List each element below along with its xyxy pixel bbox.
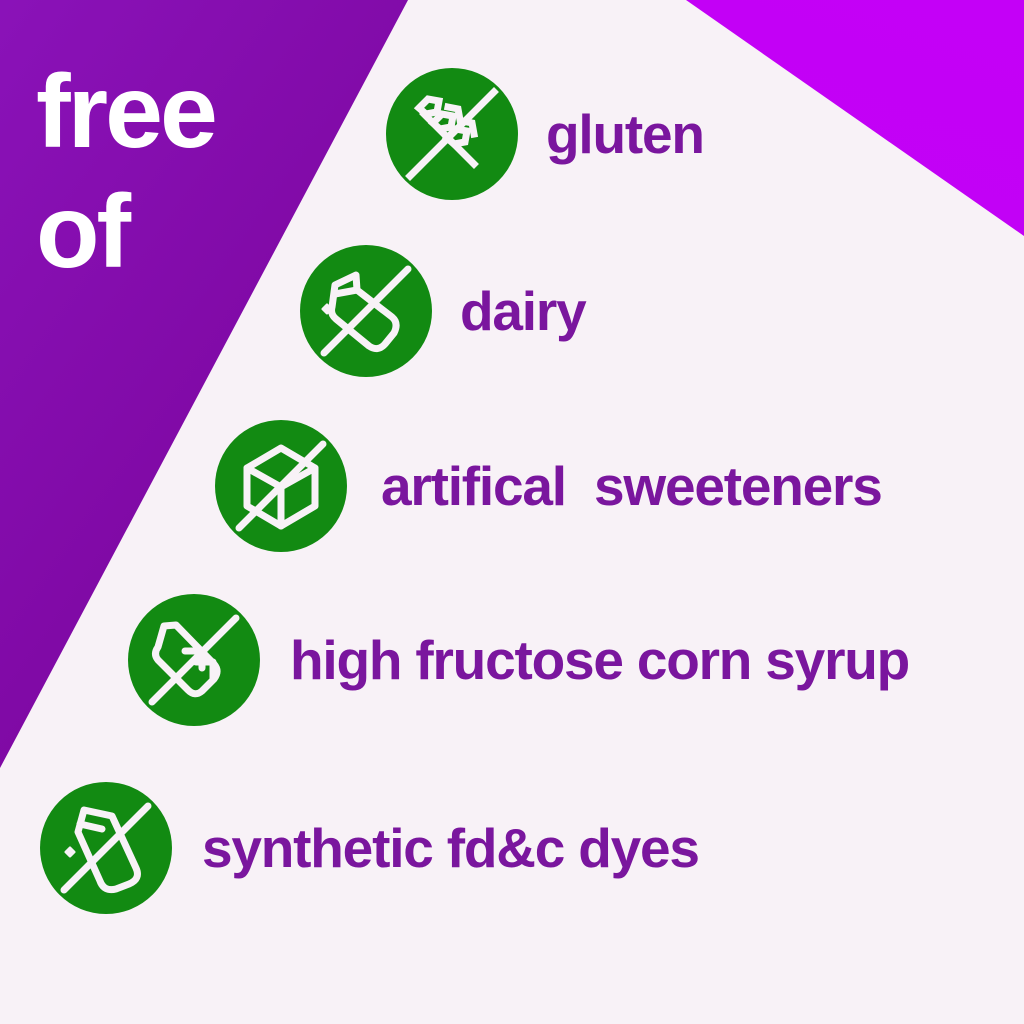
list-item-label: synthetic fd&c dyes — [202, 821, 699, 876]
list-item: dairy — [300, 245, 585, 377]
list-item-label: high fructose corn syrup — [290, 633, 909, 688]
no-milk-carton-icon — [300, 245, 432, 377]
free-of-claims-poster: free of gluten — [0, 0, 1024, 1024]
list-item: artifical sweeteners — [215, 420, 882, 552]
no-wheat-icon — [386, 68, 518, 200]
no-test-tube-icon — [40, 782, 172, 914]
list-item-label: artifical sweeteners — [381, 459, 882, 514]
list-item-label: gluten — [546, 107, 704, 162]
claims-list: gluten dairy — [0, 0, 1024, 1024]
list-item: high fructose corn syrup — [128, 594, 909, 726]
list-item-label: dairy — [460, 284, 585, 339]
list-item: gluten — [386, 68, 704, 200]
list-item: synthetic fd&c dyes — [40, 782, 699, 914]
no-corn-icon — [128, 594, 260, 726]
no-sugar-cube-icon — [215, 420, 347, 552]
